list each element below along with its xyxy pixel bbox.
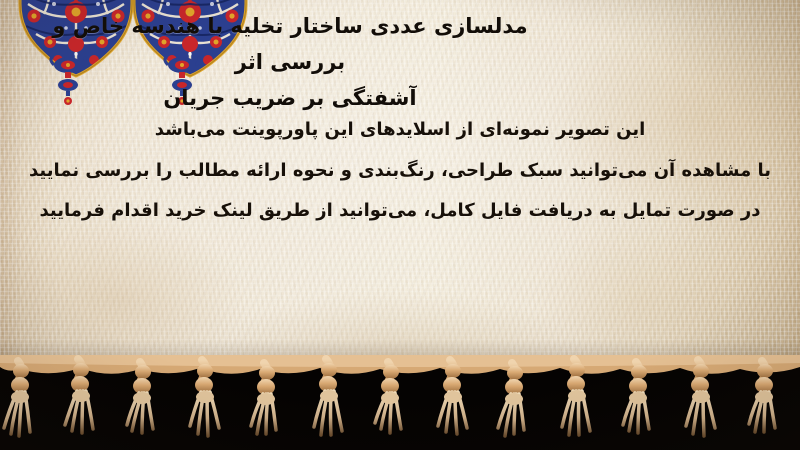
slide-title: مدلسازی عددی ساختار تخلیه با هندسه خاص و… — [12, 8, 568, 116]
slide-body: این تصویر نمونه‌ای از اسلایدهای این پاور… — [12, 110, 788, 232]
slide-text-layer: مدلسازی عددی ساختار تخلیه با هندسه خاص و… — [0, 0, 800, 392]
slide-title-line-1: مدلسازی عددی ساختار تخلیه با هندسه خاص و… — [12, 8, 568, 80]
carpet-fringe — [0, 355, 800, 450]
slide-canvas: مدلسازی عددی ساختار تخلیه با هندسه خاص و… — [0, 0, 800, 450]
slide-body-line-3: در صورت تمایل به دریافت فایل کامل، می‌تو… — [12, 191, 788, 232]
slide-body-line-1: این تصویر نمونه‌ای از اسلایدهای این پاور… — [12, 110, 788, 151]
slide-body-line-2: با مشاهده آن می‌توانید سبک طراحی، رنگ‌بن… — [12, 151, 788, 192]
